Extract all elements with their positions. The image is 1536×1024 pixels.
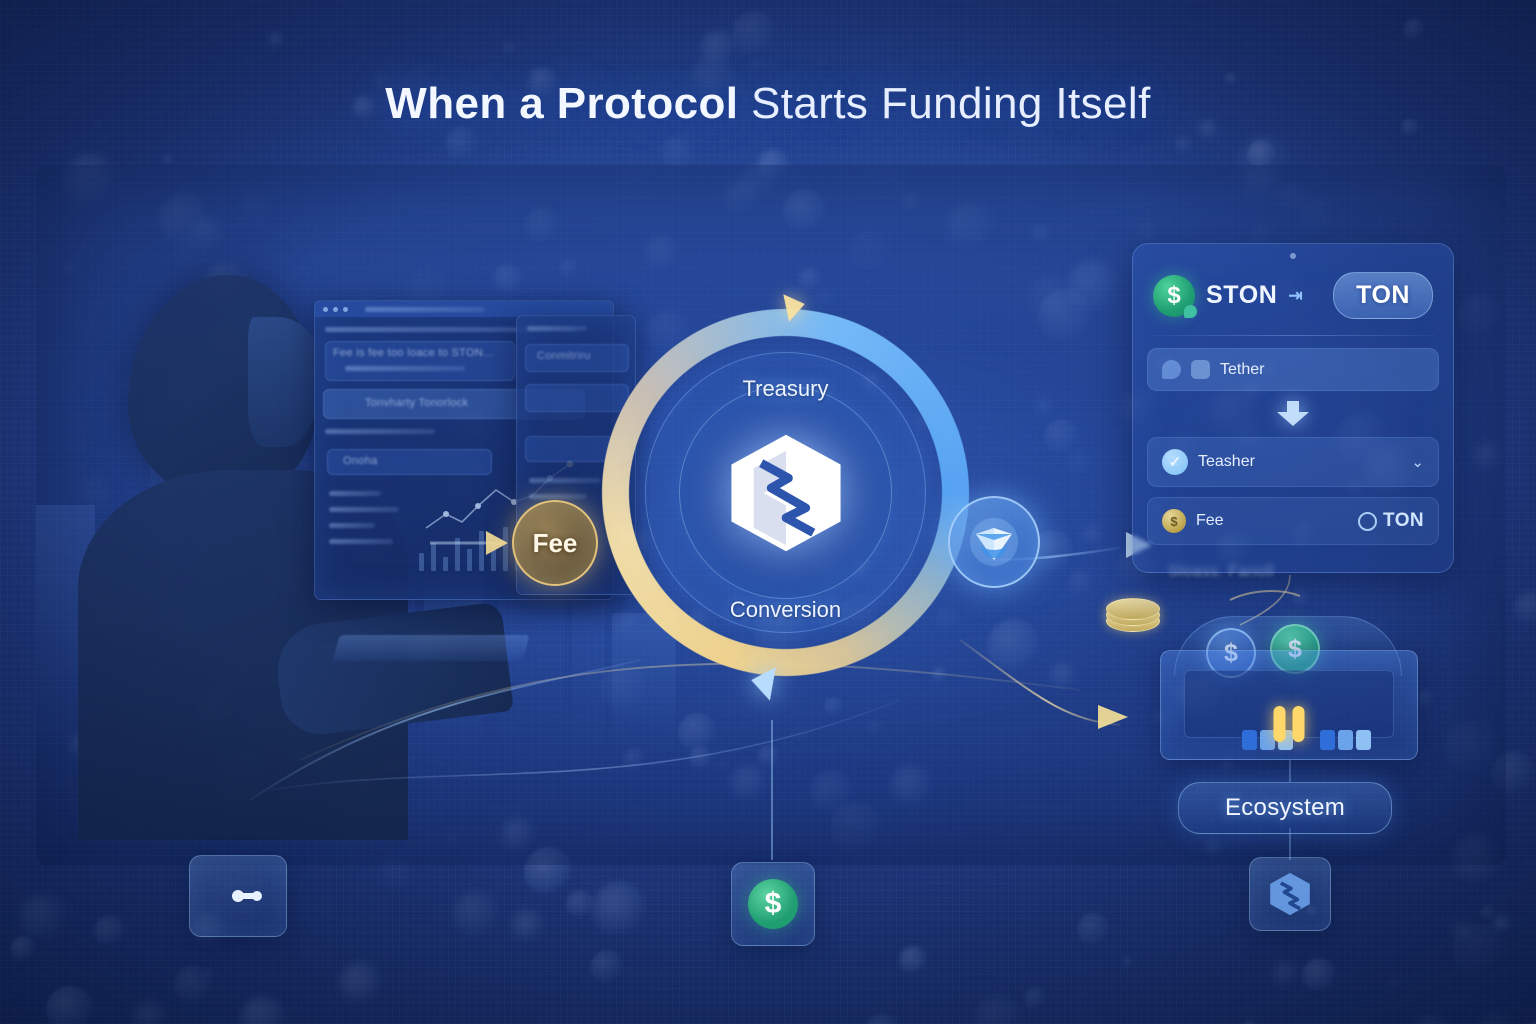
- swap-to-token-pill[interactable]: TON: [1333, 272, 1433, 319]
- tile-link-node[interactable]: [189, 855, 287, 937]
- monitor-ghost-line: [527, 326, 587, 331]
- ecosystem-led: [1338, 730, 1353, 750]
- window-dot: [323, 307, 328, 312]
- ton-badge[interactable]: [948, 496, 1040, 588]
- link-node-icon: [211, 874, 265, 918]
- swap-row-teasher[interactable]: ✓ Teasher ⌄: [1147, 437, 1439, 487]
- keyboard: [332, 635, 529, 661]
- panel-notch: [1290, 253, 1296, 259]
- fee-ton-tag: TON: [1358, 510, 1424, 532]
- cycle-label-conversion: Conversion: [593, 597, 978, 623]
- monitor-ghost-line: [329, 507, 399, 512]
- monitor-ghost-text: Fee is fee too loace to STON…: [333, 347, 494, 359]
- title-bold-part: When a Protocol: [385, 79, 738, 128]
- swap-row-label: Fee: [1196, 512, 1224, 530]
- monitor-ghost-text: Tonvharty Tonorlock: [365, 397, 468, 409]
- monitor-ghost-text: Onoha: [343, 455, 378, 467]
- swap-row-label: Teasher: [1198, 453, 1255, 471]
- swap-panel[interactable]: $ STON ⇥ TON Tether ✓ Teasher ⌄ $ Fee TO…: [1132, 243, 1454, 573]
- page-title: When a Protocol Starts Funding Itself: [385, 79, 1150, 129]
- title-light-part: Starts Funding Itself: [751, 79, 1151, 128]
- window-dot: [333, 307, 338, 312]
- ecosystem-led: [1356, 730, 1371, 750]
- token-badge-icon: [1191, 360, 1210, 379]
- swap-from-token: STON: [1206, 281, 1277, 310]
- poster-canvas: Fee is fee too loace to STON… Tonvharty …: [0, 0, 1536, 1024]
- monitor-ghost-line: [329, 491, 381, 496]
- monitor-ghost-line: [365, 307, 485, 312]
- arrow-down-icon: [1276, 401, 1310, 427]
- ston-coin-icon: $: [1153, 275, 1195, 317]
- poster-title-band: When a Protocol Starts Funding Itself: [0, 60, 1536, 148]
- tile-stonfi-logo[interactable]: [1249, 857, 1331, 931]
- fee-badge[interactable]: Fee: [512, 500, 598, 586]
- swap-direction-icon: ⇥: [1288, 286, 1300, 306]
- arrow-to-fee-icon: [486, 529, 512, 562]
- gold-coin-stack-icon: [1106, 596, 1164, 636]
- monitor-ghost-line: [529, 478, 601, 483]
- cycle-label-treasury: Treasury: [593, 376, 978, 402]
- tether-icon: [1162, 360, 1181, 379]
- ecosystem-led: [1242, 730, 1257, 750]
- monitor-ghost-line: [329, 539, 393, 544]
- arrow-to-ecosystem-icon: [1098, 700, 1138, 739]
- swap-row-label: Tether: [1220, 361, 1264, 379]
- swap-pair-header: $ STON ⇥ TON: [1147, 260, 1439, 333]
- ecosystem-server-module: [1160, 650, 1418, 760]
- panel-divider: [1151, 335, 1435, 336]
- check-circle-icon: ✓: [1162, 449, 1188, 475]
- ton-diamond-icon: [968, 516, 1020, 568]
- stonfi-logo-icon: [724, 431, 848, 555]
- fee-ton-label: TON: [1383, 510, 1424, 532]
- dollar-coin-icon: $: [748, 879, 798, 929]
- swap-row-fee[interactable]: $ Fee TON: [1147, 497, 1439, 545]
- swap-row-tether[interactable]: Tether: [1147, 348, 1439, 391]
- monitor-ghost-line: [329, 523, 375, 528]
- monitor-ghost-text: Conmitriru: [537, 350, 591, 362]
- monitor-ghost-line: [529, 494, 587, 499]
- chevron-down-icon[interactable]: ⌄: [1411, 453, 1424, 471]
- ton-circle-icon: [1358, 512, 1377, 531]
- stonfi-logo-icon: [1267, 871, 1313, 917]
- gold-coin-icon: $: [1162, 509, 1186, 533]
- ecosystem-label[interactable]: Ecosystem: [1178, 782, 1392, 834]
- ecosystem-led: [1320, 730, 1335, 750]
- ecosystem-active-bars: [1274, 706, 1305, 742]
- treasury-conversion-cycle: Treasury Conversion: [593, 300, 978, 685]
- tile-dollar-coin[interactable]: $: [731, 862, 815, 946]
- monitor-ghost-line: [345, 366, 465, 371]
- monitor-ghost-line: [325, 429, 435, 434]
- window-dot: [343, 307, 348, 312]
